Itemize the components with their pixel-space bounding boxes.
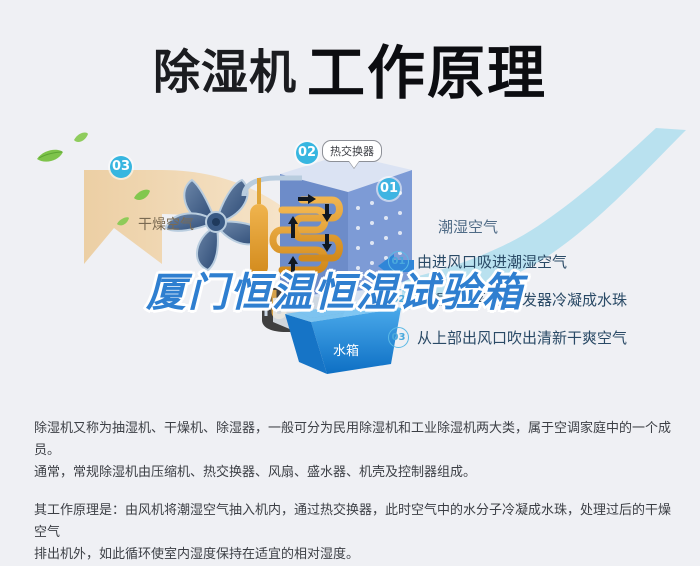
list-item: 03 从上部出风口吹出清新干爽空气 <box>388 324 688 351</box>
title-part-2: 工作原理 <box>307 39 547 107</box>
diagram-badge-03: 03 <box>110 156 132 178</box>
step-text: 从上部出风口吹出清新干爽空气 <box>417 327 627 348</box>
diagram-badge-01: 01 <box>378 178 400 200</box>
infographic-page: 除湿机工作原理 <box>0 0 700 566</box>
page-title: 除湿机工作原理 <box>0 26 700 110</box>
leaf-icon <box>36 148 64 164</box>
label-dry-air: 干燥空气 <box>138 214 194 234</box>
title-part-1: 除湿机 <box>153 46 297 101</box>
step-number: 03 <box>388 327 409 348</box>
paragraph-1-line-1: 除湿机又称为抽湿机、干燥机、除湿器，一般可分为民用除湿机和工业除湿机两大类，属于… <box>34 418 674 462</box>
paragraph-2-line-2: 排出机外，如此循环使室内湿度保持在适宜的相对湿度。 <box>34 544 674 566</box>
watermark-label: 厦门恒温恒湿试验箱 <box>146 270 524 316</box>
diagram-badge-02: 02 <box>296 142 318 164</box>
label-water-tank: 水箱 <box>333 340 359 359</box>
label-humid-air: 潮湿空气 <box>438 216 498 237</box>
paragraph-2-line-1: 其工作原理是：由风机将潮湿空气抽入机内，通过热交换器，此时空气中的水分子冷凝成水… <box>34 500 674 544</box>
paragraph-1-line-2: 通常，常规除湿机由压缩机、热交换器、风扇、盛水器、机壳及控制器组成。 <box>34 462 674 484</box>
leaf-icon <box>73 131 89 144</box>
leaf-icon <box>133 188 151 202</box>
callout-heat-exchanger: 热交换器 <box>322 140 382 162</box>
watermark-text: 厦门恒温恒湿试验箱 <box>146 260 524 318</box>
leaf-icon <box>116 216 130 227</box>
body-copy: 除湿机又称为抽湿机、干燥机、除湿器，一般可分为民用除湿机和工业除湿机两大类，属于… <box>34 418 674 566</box>
